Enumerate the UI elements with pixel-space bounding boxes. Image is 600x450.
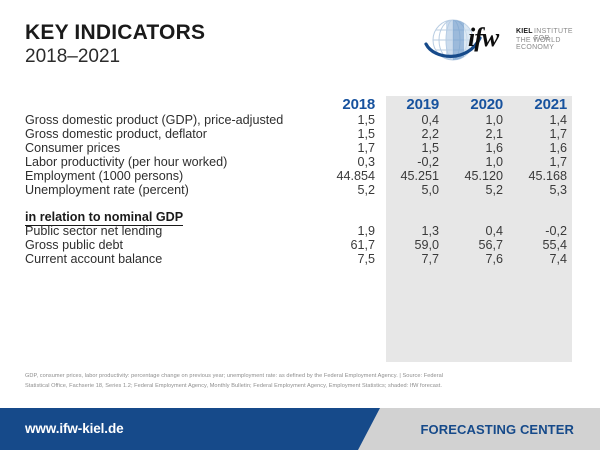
logo-kiel-text: KIEL bbox=[516, 28, 533, 35]
cell-2020: 5,2 bbox=[439, 183, 503, 197]
cell-2018: 1,9 bbox=[311, 224, 375, 238]
cell-2020: 56,7 bbox=[439, 238, 503, 252]
row-label: Gross domestic product, deflator bbox=[25, 127, 311, 141]
cell-2020: 0,4 bbox=[439, 224, 503, 238]
row-label: Employment (1000 persons) bbox=[25, 169, 311, 183]
spacer-cell bbox=[503, 197, 567, 210]
table-row: Gross public debt 61,7 59,0 56,7 55,4 bbox=[25, 238, 581, 252]
row-label: Gross domestic product (GDP), price-adju… bbox=[25, 113, 311, 127]
page-title: KEY INDICATORS bbox=[25, 22, 205, 44]
table-row: Employment (1000 persons) 44.854 45.251 … bbox=[25, 169, 581, 183]
table-row: Current account balance 7,5 7,7 7,6 7,4 bbox=[25, 252, 581, 266]
footnote: GDP, consumer prices, labor productivity… bbox=[25, 372, 577, 392]
table-row: Gross domestic product (GDP), price-adju… bbox=[25, 113, 581, 127]
cell-2020: 1,0 bbox=[439, 113, 503, 127]
cell-2021: -0,2 bbox=[503, 224, 567, 238]
cell-2018: 1,5 bbox=[311, 113, 375, 127]
logo-world-economy-text: THE WORLD ECONOMY bbox=[516, 37, 584, 51]
section-pad bbox=[567, 210, 581, 224]
cell-pad bbox=[567, 224, 581, 238]
column-header-2018: 2018 bbox=[311, 96, 375, 113]
column-header-label bbox=[25, 96, 311, 113]
logo-wordmark: ifw bbox=[468, 23, 498, 53]
cell-pad bbox=[567, 113, 581, 127]
header: KEY INDICATORS 2018–2021 bbox=[0, 0, 600, 86]
footnote-line-2: Statistical Office, Fachserie 18, Series… bbox=[25, 382, 577, 392]
cell-2019: 1,5 bbox=[375, 141, 439, 155]
spacer-cell bbox=[311, 197, 375, 210]
cell-pad bbox=[567, 141, 581, 155]
section-pad bbox=[503, 210, 567, 224]
title-block: KEY INDICATORS 2018–2021 bbox=[25, 22, 205, 68]
cell-2018: 61,7 bbox=[311, 238, 375, 252]
column-header-2020: 2020 bbox=[439, 96, 503, 113]
cell-2021: 7,4 bbox=[503, 252, 567, 266]
section-pad bbox=[311, 210, 375, 224]
spacer-cell bbox=[25, 197, 311, 210]
column-header-2019: 2019 bbox=[375, 96, 439, 113]
footer-bar: www.ifw-kiel.de FORECASTING CENTER bbox=[0, 408, 600, 450]
cell-2018: 1,7 bbox=[311, 141, 375, 155]
cell-2019: 59,0 bbox=[375, 238, 439, 252]
cell-pad bbox=[567, 252, 581, 266]
cell-2019: 2,2 bbox=[375, 127, 439, 141]
row-spacer bbox=[25, 197, 581, 210]
cell-2020: 1,6 bbox=[439, 141, 503, 155]
cell-2021: 1,7 bbox=[503, 155, 567, 169]
table-body: Gross domestic product (GDP), price-adju… bbox=[25, 113, 581, 266]
cell-2019: 7,7 bbox=[375, 252, 439, 266]
footer-website-link[interactable]: www.ifw-kiel.de bbox=[25, 421, 124, 436]
ifw-logo: ifw KIEL INSTITUTE FOR THE WORLD ECONOMY bbox=[424, 14, 584, 70]
row-label: Unemployment rate (percent) bbox=[25, 183, 311, 197]
table-row: Consumer prices 1,7 1,5 1,6 1,6 bbox=[25, 141, 581, 155]
cell-2018: 1,5 bbox=[311, 127, 375, 141]
cell-2021: 1,7 bbox=[503, 127, 567, 141]
cell-pad bbox=[567, 169, 581, 183]
footnote-line-1: GDP, consumer prices, labor productivity… bbox=[25, 372, 577, 382]
cell-2021: 1,4 bbox=[503, 113, 567, 127]
section-heading-row: in relation to nominal GDP bbox=[25, 210, 581, 224]
cell-2019: -0,2 bbox=[375, 155, 439, 169]
cell-2020: 2,1 bbox=[439, 127, 503, 141]
cell-pad bbox=[567, 183, 581, 197]
poster-root: KEY INDICATORS 2018–2021 bbox=[0, 0, 600, 450]
cell-pad bbox=[567, 155, 581, 169]
cell-2019: 45.251 bbox=[375, 169, 439, 183]
cell-2019: 5,0 bbox=[375, 183, 439, 197]
table-row: Gross domestic product, deflator 1,5 2,2… bbox=[25, 127, 581, 141]
spacer-cell bbox=[439, 197, 503, 210]
row-label: Labor productivity (per hour worked) bbox=[25, 155, 311, 169]
cell-2020: 1,0 bbox=[439, 155, 503, 169]
cell-2021: 55,4 bbox=[503, 238, 567, 252]
cell-pad bbox=[567, 127, 581, 141]
indicators-table: 2018 2019 2020 2021 Gross domestic produ… bbox=[25, 96, 581, 266]
cell-pad bbox=[567, 238, 581, 252]
cell-2019: 1,3 bbox=[375, 224, 439, 238]
cell-2021: 5,3 bbox=[503, 183, 567, 197]
cell-2018: 44.854 bbox=[311, 169, 375, 183]
row-label: Gross public debt bbox=[25, 238, 311, 252]
row-label: Public sector net lending bbox=[25, 224, 311, 238]
section-pad bbox=[439, 210, 503, 224]
cell-2020: 45.120 bbox=[439, 169, 503, 183]
table-header-row: 2018 2019 2020 2021 bbox=[25, 96, 581, 113]
cell-2021: 1,6 bbox=[503, 141, 567, 155]
section-pad bbox=[375, 210, 439, 224]
column-header-pad bbox=[567, 96, 581, 113]
row-label: Consumer prices bbox=[25, 141, 311, 155]
cell-2019: 0,4 bbox=[375, 113, 439, 127]
spacer-cell bbox=[567, 197, 581, 210]
cell-2020: 7,6 bbox=[439, 252, 503, 266]
table-head: 2018 2019 2020 2021 bbox=[25, 96, 581, 113]
spacer-cell bbox=[375, 197, 439, 210]
indicators-table-wrap: 2018 2019 2020 2021 Gross domestic produ… bbox=[0, 96, 600, 266]
section-heading: in relation to nominal GDP bbox=[25, 210, 311, 224]
table-row: Public sector net lending 1,9 1,3 0,4 -0… bbox=[25, 224, 581, 238]
column-header-2021: 2021 bbox=[503, 96, 567, 113]
cell-2018: 7,5 bbox=[311, 252, 375, 266]
row-label: Current account balance bbox=[25, 252, 311, 266]
footer-forecasting-center-label: FORECASTING CENTER bbox=[421, 422, 574, 437]
cell-2018: 5,2 bbox=[311, 183, 375, 197]
table-row: Unemployment rate (percent) 5,2 5,0 5,2 … bbox=[25, 183, 581, 197]
cell-2018: 0,3 bbox=[311, 155, 375, 169]
page-subtitle: 2018–2021 bbox=[25, 46, 205, 68]
table-row: Labor productivity (per hour worked) 0,3… bbox=[25, 155, 581, 169]
cell-2021: 45.168 bbox=[503, 169, 567, 183]
